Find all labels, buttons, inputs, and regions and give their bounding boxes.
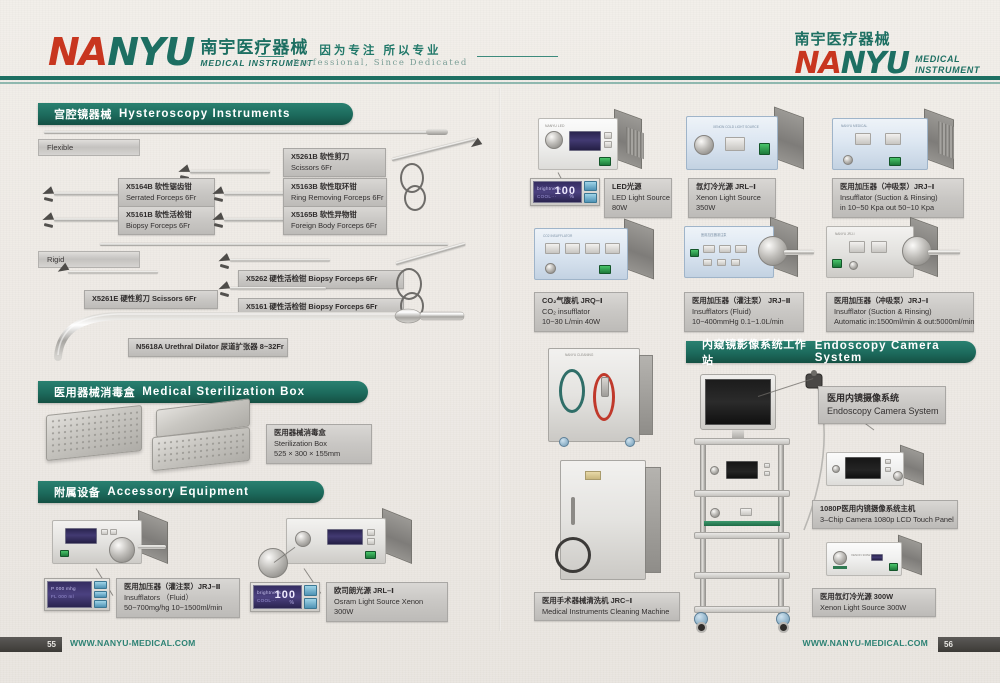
- caption-sterilization-box-line2: Sterilization Box: [274, 439, 364, 450]
- caption-x5262-line1: X5262 硬性活检钳 Biopsy Forceps 6Fr: [246, 274, 396, 285]
- caption-cleaning-machine-line2: Medical Instruments Cleaning Machine: [542, 607, 672, 618]
- device-led-light-front: NANYU LED: [538, 118, 618, 170]
- device-co2-insufflator-brand: CO2 INSUFFLATOR: [543, 234, 572, 238]
- tower-monitor-stand: [732, 430, 744, 438]
- machine-cleaning-upper-caster-right: [625, 437, 635, 447]
- device-co2-insufflator-front: CO2 INSUFFLATOR: [534, 228, 628, 280]
- device-xenon-300-stripe: [833, 566, 847, 569]
- device-insufflator-fluid-b5: [717, 259, 726, 266]
- page-number-right-value: 56: [944, 640, 953, 649]
- section-banner-hysteroscopy-en: Hysteroscopy Instruments: [119, 108, 290, 120]
- device-xenon-300-display: [871, 554, 883, 561]
- caption-insufflator-suction-1: 医用加压器（冲吸泵）JRJ–Ⅰ Insufflator (Suction & R…: [832, 178, 964, 218]
- callout-osram-light-keys[interactable]: [304, 585, 317, 609]
- caption-insufflator-suction-1-line1: 医用加压器（冲吸泵）JRJ–Ⅰ: [840, 182, 956, 193]
- device-camera-1080p-btn1: [885, 459, 891, 464]
- caption-insufflator-suction-1-line2: Insufflator (Suction & Rinsing): [840, 193, 956, 204]
- footer-url-left[interactable]: WWW.NANYU-MEDICAL.COM: [70, 638, 195, 648]
- tower-shelf-2: [694, 490, 790, 497]
- machine-cleaning-upper-spray-gun: [601, 377, 609, 397]
- page-number-left-value: 55: [47, 640, 56, 649]
- caption-x5161b-line1: X5161B 软性活检钳: [126, 210, 207, 221]
- caption-x5261b-line2: Scissors 6Fr: [291, 163, 378, 174]
- callout-led-light: brightness COOL··· 100 %: [530, 178, 600, 206]
- device-xenon-350-front: XENON COLD LIGHT SOURCE: [686, 116, 778, 170]
- caption-insufflator-suction-2-line1: 医用加压器（冲吸泵）JRJ–Ⅰ: [834, 296, 966, 307]
- caption-x5161b: X5161B 软性活检钳 Biopsy Forceps 6Fr: [118, 206, 215, 235]
- caption-insufflator-suction-1-line3: in 10~50 Kpa out 50~10 Kpa: [840, 203, 956, 214]
- device-insufflator-fluid-power: [690, 249, 699, 257]
- caption-x5261b-line1: X5261B 软性剪刀: [291, 152, 378, 163]
- device-insufflator-suction-1-power: [889, 157, 901, 166]
- device-led-light-btn2: [604, 141, 612, 148]
- x5163b-jaw-lower: [214, 197, 223, 202]
- page-footer: 55 WWW.NANYU-MEDICAL.COM WWW.NANYU-MEDIC…: [0, 631, 1000, 683]
- machine-cleaning-upper-hose-teal: [559, 369, 585, 413]
- caption-n5618a-line1: N5618A Urethral Dilator 尿道扩张器 8~32Fr: [136, 342, 280, 353]
- flexible-scope-tip: [426, 129, 448, 135]
- device-xenon-350-panel: [725, 137, 745, 151]
- caption-x5161b-line2: Biopsy Forceps 6Fr: [126, 221, 207, 232]
- callout-insufflator-pump: P 000 mhg FL 000 ml: [44, 578, 110, 611]
- device-xenon-350-port: [694, 135, 714, 155]
- brand-tagline: 因为专注 所以专业 Professional, Since Dedicated: [258, 44, 558, 69]
- device-xenon-350-brand: XENON COLD LIGHT SOURCE: [713, 125, 759, 129]
- section-banner-accessory-cn: 附属设备: [54, 484, 100, 500]
- caption-led-light-line1: LED光源: [612, 182, 664, 193]
- device-camera-1080p-knob: [832, 465, 840, 473]
- tower-camera-control-unit: [704, 456, 780, 484]
- tower-camera-control-unit-knob: [710, 466, 719, 475]
- device-co2-port: [545, 263, 556, 274]
- machine-cleaning-lower-handle: [571, 497, 575, 525]
- device-led-light-lcd: [569, 131, 601, 151]
- callout-osram-light-unit: %: [290, 600, 294, 606]
- device-insufflator-suction-1-front: NANYU MEDICAL: [832, 118, 928, 170]
- caption-x5165b-line2: Foreign Body Forceps 6Fr: [291, 221, 379, 232]
- caption-x5165b: X5165B 软性异物钳 Foreign Body Forceps 6Fr: [283, 206, 387, 235]
- device-osram-light-fiber-connector: [258, 548, 288, 578]
- caption-camera-system-line2: Endoscopy Camera System: [827, 405, 937, 418]
- loop-forceps-shaft-a: [392, 137, 476, 162]
- device-insufflator-suction-2-port: [849, 261, 858, 270]
- footer-url-right[interactable]: WWW.NANYU-MEDICAL.COM: [803, 638, 928, 648]
- device-co2-power: [599, 265, 611, 274]
- machine-cleaning-lower: [560, 460, 646, 580]
- caption-xenon-350-line1: 氙灯冷光源 JRL–Ⅰ: [696, 182, 768, 193]
- device-led-light: NANYU LED: [538, 112, 648, 174]
- caption-co2-line1: CO₂气腹机 JRQ–Ⅰ: [542, 296, 620, 307]
- tower-camera-control-unit-screen: [726, 461, 758, 479]
- caption-cleaning-machine-line1: 医用手术器械清洗机 JRC–Ⅰ: [542, 596, 672, 607]
- device-insufflator-pump-side: [138, 510, 168, 564]
- x5261b-jaw-upper: [177, 164, 190, 175]
- section-banner-sterilization: 医用器械消毒盒 Medical Sterilization Box: [38, 381, 368, 403]
- device-led-light-knob: [545, 131, 563, 149]
- device-insufflator-suction-2-display2: [871, 241, 887, 253]
- page-number-right: 56: [938, 637, 1000, 652]
- machine-cleaning-lower-side: [645, 467, 661, 573]
- tagline-rule-left: [258, 56, 284, 58]
- device-insufflator-suction-2-display1: [849, 241, 865, 253]
- device-insufflator-fluid-b3: [735, 245, 747, 253]
- x5161-jaw-upper: [217, 281, 230, 293]
- caption-x5165b-line1: X5165B 软性异物钳: [291, 210, 379, 221]
- device-insufflator-fluid-b6: [731, 259, 740, 266]
- sterilization-tray-closed-perforations: [50, 409, 138, 456]
- header-rule-secondary: [0, 82, 1000, 84]
- device-insufflator-pump-tube: [138, 545, 166, 549]
- caption-accessory-osram-line1: 欧司朗光源 JRL–Ⅰ: [334, 586, 440, 597]
- device-insufflator-pump: [52, 514, 172, 568]
- caption-accessory-insufflator-line1: 医用加压器（灌注泵）JRJ–Ⅱ: [124, 582, 232, 593]
- device-insufflator-fluid-brand: 医用加压器灌注泵: [701, 232, 727, 237]
- device-xenon-300-port: [833, 551, 847, 565]
- callout-insufflator-pump-keys[interactable]: [94, 581, 107, 608]
- device-insufflator-suction-1-vent: [938, 121, 954, 159]
- x5262-shaft: [230, 259, 330, 262]
- x5163b-shaft: [224, 192, 286, 196]
- device-insufflator-suction-1-display1: [855, 133, 871, 145]
- section-banner-hysteroscopy-cn: 宫腔镜器械: [54, 106, 112, 122]
- loop-forceps2-shaft: [395, 242, 465, 266]
- caption-accessory-insufflator-line2: Insufflators （Fluid）: [124, 593, 232, 604]
- caption-accessory-insufflator: 医用加压器（灌注泵）JRJ–Ⅱ Insufflators （Fluid） 50~…: [116, 578, 240, 618]
- caption-accessory-osram: 欧司朗光源 JRL–Ⅰ Osram Light Source Xenon 300…: [326, 582, 448, 622]
- caption-co2-insufflator: CO₂气腹机 JRQ–Ⅰ CO₂ insufflator 10~30 L/min…: [534, 292, 628, 332]
- device-xenon-350-side: [774, 107, 804, 170]
- device-xenon-300-brand: XENON 300W: [851, 553, 870, 557]
- tower-monitor: [700, 374, 776, 430]
- device-insufflator-fluid-tube: [784, 250, 814, 255]
- brand-en-line2: INSTRUMENT: [915, 65, 980, 75]
- tower-shelf-3: [694, 532, 790, 539]
- caption-x5163b-line1: X5163B 软性取环钳: [291, 182, 379, 193]
- caption-insufflator-fluid-line2: Insufflators (Fluid): [692, 307, 796, 318]
- device-camera-1080p-front: [826, 452, 904, 486]
- device-insufflator-suction-1-brand: NANYU MEDICAL: [841, 124, 867, 128]
- device-insufflator-pump-btn2: [110, 529, 117, 535]
- caption-x5261e-line1: X5261E 硬性剪刀 Scissors 6Fr: [92, 294, 210, 305]
- tagline-rule-right: [477, 56, 558, 58]
- tower-camera-control-unit-btn2: [764, 471, 770, 476]
- caption-insufflator-suction-2-line3: Automatic in:1500ml/min & out:5000ml/min: [834, 317, 966, 328]
- x5262-jaw-upper: [217, 253, 230, 265]
- divider-flexible: Flexible: [38, 139, 140, 156]
- device-co2-display2: [565, 243, 580, 254]
- device-osram-light-power: [365, 551, 376, 559]
- device-xenon-300-power: [889, 563, 898, 571]
- tagline-en: Professional, Since Dedicated: [293, 58, 468, 68]
- device-insufflator-pump-btn1: [101, 529, 108, 535]
- divider-flexible-label: Flexible: [47, 143, 73, 152]
- brand-wordmark: NANYU: [48, 34, 194, 70]
- page-spine: [499, 88, 501, 631]
- callout-led-light-unit: %: [570, 194, 574, 200]
- device-co2-insufflator-side: [624, 219, 654, 280]
- caption-camera-system-line1: 医用内镜摄像系统: [827, 392, 937, 405]
- device-co2-display1: [545, 243, 560, 254]
- device-led-light-brand: NANYU LED: [545, 124, 564, 128]
- device-insufflator-suction-2-power: [832, 259, 842, 268]
- caption-xenon-300: 医用氙灯冷光源 300W Xenon Light Source 300W: [812, 588, 936, 617]
- caption-led-light-line3: 80W: [612, 203, 664, 214]
- device-insufflator-suction-1-display2: [885, 133, 901, 145]
- device-osram-light-btn2: [367, 538, 375, 545]
- device-insufflator-pump-power: [60, 550, 69, 557]
- caption-xenon-350-line2: Xenon Light Source: [696, 193, 768, 204]
- callout-osram-light-screen: brightness COOL··· 100 %: [253, 585, 302, 609]
- device-co2-display3: [585, 243, 600, 254]
- device-camera-1080p-screen: [845, 457, 881, 479]
- tower-shelf-4: [694, 572, 790, 579]
- x5261e-shaft: [68, 271, 158, 274]
- device-insufflator-suction-2-brand: NANYU JRJ-I: [835, 232, 854, 236]
- section-banner-camera-system-cn: 内窥镜影像系统工作站: [702, 336, 808, 368]
- device-insufflator-fluid: 医用加压器灌注泵: [684, 220, 816, 282]
- caption-x5261b: X5261B 软性剪刀 Scissors 6Fr: [283, 148, 386, 177]
- x5262-jaw-lower: [220, 264, 229, 269]
- callout-led-light-screen: brightness COOL··· 100 %: [533, 181, 582, 203]
- caption-camera-system: 医用内镜摄像系统 Endoscopy Camera System: [818, 386, 946, 424]
- sterilization-tray-closed: [46, 405, 142, 461]
- divider-rigid: Rigid: [38, 251, 140, 268]
- machine-cleaning-upper-brand: NANYU CLEANING: [565, 353, 593, 357]
- device-xenon-350: XENON COLD LIGHT SOURCE: [686, 110, 810, 174]
- caption-x5164b-line2: Serrated Forceps 6Fr: [126, 193, 207, 204]
- device-insufflator-fluid-b2: [719, 245, 731, 253]
- device-led-light-btn1: [604, 132, 612, 139]
- caption-co2-line2: CO₂ insufflator: [542, 307, 620, 318]
- machine-cleaning-lower-plate: [585, 471, 601, 480]
- caption-accessory-osram-line3: 300W: [334, 607, 440, 618]
- caption-insufflator-fluid: 医用加压器（灌注泵） JRJ–Ⅱ Insufflators (Fluid) 10…: [684, 292, 804, 332]
- x5161b-jaw-upper: [41, 212, 54, 224]
- device-xenon-350-power: [759, 143, 770, 155]
- device-osram-light-front: [286, 518, 386, 564]
- brand-en-line1: MEDICAL: [915, 54, 980, 64]
- caption-insufflator-suction-2: 医用加压器（冲吸泵）JRJ–Ⅰ Insufflator (Suction & R…: [826, 292, 974, 332]
- device-insufflator-pump-front: [52, 520, 142, 564]
- caption-xenon-300-line2: Xenon Light Source 300W: [820, 603, 928, 614]
- callout-insufflator-pump-t2: FL 000 ml: [51, 594, 74, 599]
- caption-sterilization-box: 医用器械消毒盒 Sterilization Box 525 × 300 × 15…: [266, 424, 372, 464]
- loop-forceps-ring-b: [404, 185, 426, 211]
- callout-osram-light: brightness COOL··· 100 %: [250, 582, 320, 612]
- caption-co2-line3: 10~30 L/min 40W: [542, 317, 620, 328]
- machine-cleaning-upper: NANYU CLEANING: [548, 348, 640, 442]
- device-insufflator-suction-2: NANYU JRJ-I: [826, 220, 966, 282]
- caption-n5618a: N5618A Urethral Dilator 尿道扩张器 8~32Fr: [128, 338, 288, 357]
- tower-shelf-1: [694, 438, 790, 445]
- caption-cleaning-machine: 医用手术器械清洗机 JRC–Ⅰ Medical Instruments Clea…: [534, 592, 680, 621]
- device-co2-insufflator: CO2 INSUFFLATOR: [534, 222, 660, 284]
- tower-light-source-display: [740, 508, 752, 516]
- tower-light-source: [704, 500, 780, 526]
- caption-camera-1080p: 1080P医用内镜摄像系统主机 3–Chip Camera 1080p LCD …: [812, 500, 958, 529]
- caption-camera-1080p-line1: 1080P医用内镜摄像系统主机: [820, 504, 950, 515]
- x5165b-jaw-lower: [214, 223, 223, 228]
- x5261b-shaft: [190, 170, 270, 174]
- section-banner-sterilization-en: Medical Sterilization Box: [142, 386, 305, 398]
- brand-logo-right: 南宇医疗器械 NANYU MEDICAL INSTRUMENT: [794, 32, 980, 78]
- caption-led-light: LED光源 LED Light Source 80W: [604, 178, 672, 218]
- caption-xenon-350-line3: 350W: [696, 203, 768, 214]
- divider-rigid-label: Rigid: [47, 255, 64, 264]
- caption-sterilization-box-line1: 医用器械消毒盒: [274, 428, 364, 439]
- caption-x5164b: X5164B 软性锯齿钳 Serrated Forceps 6Fr: [118, 178, 215, 207]
- tagline-cn: 因为专注 所以专业: [293, 44, 468, 58]
- machine-cleaning-upper-side: [639, 355, 653, 435]
- x5161b-jaw-lower: [44, 223, 53, 228]
- flexible-scope-shaft: [44, 131, 429, 134]
- caption-accessory-insufflator-line3: 50~700mg/hg 10~1500ml/min: [124, 603, 232, 614]
- section-banner-camera-system: 内窥镜影像系统工作站 Endoscopy Camera System: [686, 341, 976, 363]
- device-camera-1080p-port: [893, 471, 903, 481]
- device-insufflator-suction-2-tube: [928, 250, 960, 255]
- rigid-scope-shaft: [100, 243, 448, 246]
- device-insufflator-pump-roller: [109, 537, 135, 563]
- tower-shelf-5: [694, 606, 790, 613]
- device-osram-light-btn1: [367, 529, 375, 536]
- device-insufflator-suction-1-port: [843, 155, 853, 165]
- tower-light-source-port: [710, 508, 720, 518]
- device-led-light-power: [599, 157, 611, 166]
- tower-camera-control-unit-btn1: [764, 463, 770, 468]
- page-header: NANYU 南宇医疗器械 MEDICAL INSTRUMENT 因为专注 所以专…: [0, 0, 1000, 88]
- x5164b-jaw-upper: [41, 186, 54, 198]
- x5165b-shaft: [224, 218, 286, 222]
- caption-x5164b-line1: X5164B 软性锯齿钳: [126, 182, 207, 193]
- device-osram-light: [286, 512, 416, 568]
- device-xenon-300-front: XENON 300W: [826, 542, 902, 576]
- device-co2-display4: [605, 243, 620, 254]
- caption-insufflator-suction-2-line2: Insufflator (Suction & Rinsing): [834, 307, 966, 318]
- device-insufflator-suction-1: NANYU MEDICAL: [832, 112, 962, 174]
- callout-insufflator-pump-t1: P 000 mhg: [51, 586, 76, 591]
- caption-x5262: X5262 硬性活检钳 Biopsy Forceps 6Fr: [238, 270, 404, 289]
- header-rule-primary: [0, 76, 1000, 80]
- device-camera-1080p: [826, 448, 938, 490]
- section-banner-camera-system-en: Endoscopy Camera System: [815, 340, 976, 364]
- tower-monitor-screen: [705, 379, 771, 425]
- device-insufflator-fluid-b1: [703, 245, 715, 253]
- caption-x5163b-line2: Ring Removing Forceps 6Fr: [291, 193, 379, 204]
- x5161-jaw-lower: [220, 292, 229, 297]
- caption-x5163b: X5163B 软性取环钳 Ring Removing Forceps 6Fr: [283, 178, 387, 207]
- device-osram-light-lcd: [327, 529, 363, 545]
- page-number-left: 55: [0, 637, 62, 652]
- caption-accessory-osram-line2: Osram Light Source Xenon: [334, 597, 440, 608]
- caption-xenon-300-line1: 医用氙灯冷光源 300W: [820, 592, 928, 603]
- callout-led-light-keys[interactable]: [584, 181, 597, 203]
- device-osram-light-port: [295, 531, 311, 547]
- caption-xenon-350: 氙灯冷光源 JRL–Ⅰ Xenon Light Source 350W: [688, 178, 776, 218]
- section-banner-hysteroscopy: 宫腔镜器械 Hysteroscopy Instruments: [38, 103, 353, 125]
- device-xenon-300: XENON 300W: [826, 538, 936, 580]
- device-insufflator-pump-lcd: [65, 528, 97, 544]
- device-insufflator-fluid-b4: [703, 259, 712, 266]
- x5161-shaft: [230, 287, 326, 290]
- caption-sterilization-box-line3: 525 × 300 × 155mm: [274, 449, 364, 460]
- device-insufflator-suction-2-front: NANYU JRJ-I: [826, 226, 914, 278]
- section-banner-sterilization-cn: 医用器械消毒盒: [54, 384, 135, 400]
- brand-wordmark-right: NANYU: [794, 50, 909, 79]
- caption-insufflator-fluid-line3: 10~400mmHg 0.1~1.0L/min: [692, 317, 796, 328]
- machine-cleaning-upper-caster-left: [559, 437, 569, 447]
- catalog-page: NANYU 南宇医疗器械 MEDICAL INSTRUMENT 因为专注 所以专…: [0, 0, 1000, 683]
- machine-cleaning-lower-hose: [555, 537, 591, 573]
- caption-insufflator-fluid-line1: 医用加压器（灌注泵） JRJ–Ⅱ: [692, 296, 796, 307]
- section-banner-accessory-en: Accessory Equipment: [107, 486, 249, 498]
- tower-light-source-stripe: [704, 521, 780, 526]
- caption-led-light-line2: LED Light Source: [612, 193, 664, 204]
- sterilization-tray-open-perforations: [156, 431, 246, 466]
- x5164b-jaw-lower: [44, 197, 53, 202]
- device-osram-light-side: [382, 508, 412, 564]
- callout-insufflator-pump-screen: P 000 mhg FL 000 ml: [47, 581, 92, 608]
- device-camera-1080p-btn2: [885, 467, 891, 472]
- caption-camera-1080p-line2: 3–Chip Camera 1080p LCD Touch Panel: [820, 515, 950, 526]
- section-banner-accessory: 附属设备 Accessory Equipment: [38, 481, 324, 503]
